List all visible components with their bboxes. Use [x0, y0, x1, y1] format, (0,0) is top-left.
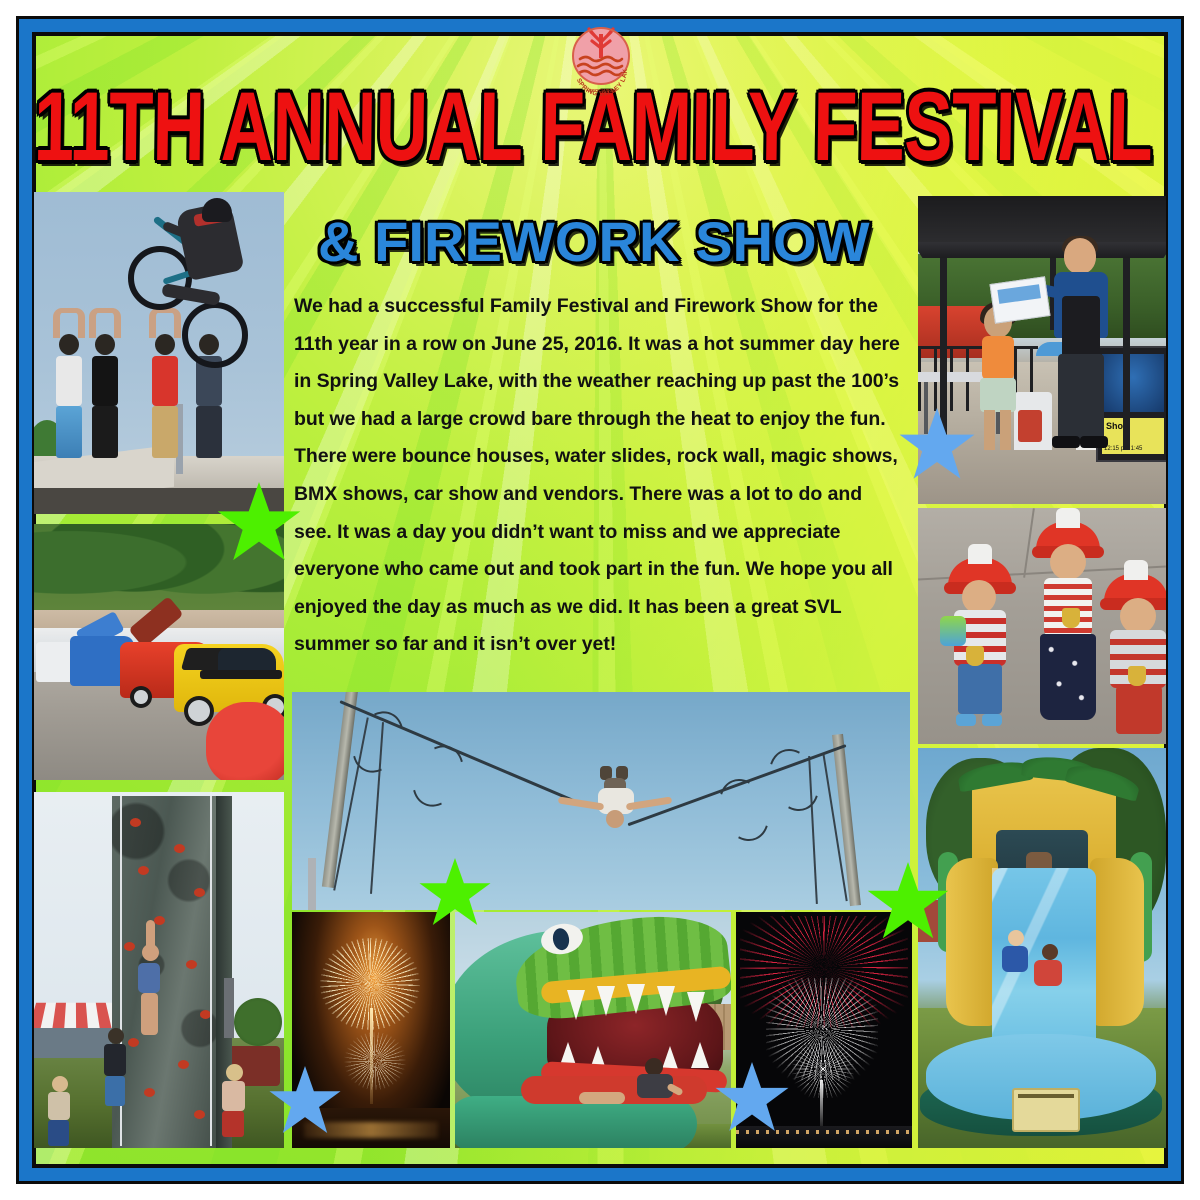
photo-rock-wall: [34, 792, 284, 1148]
photo-crocodile-bounce-house: [455, 912, 731, 1148]
photo-bmx-show: [34, 192, 284, 514]
spring-valley-lake-logo: SPRING VALLEY LAKE ASSOCIATION: [565, 22, 637, 98]
photo-bungee-trampoline: [292, 692, 910, 910]
photo-kids-fire-hats: [918, 508, 1166, 744]
festival-recap-paragraph: We had a successful Family Festival and …: [294, 288, 904, 664]
photo-car-show: [34, 524, 284, 780]
festival-poster: SPRING VALLEY LAKE ASSOCIATION Show 12:1…: [0, 0, 1200, 1200]
page-subtitle: & FIREWORK SHOW: [318, 214, 870, 270]
logo-sub-text: ASSOCIATION: [586, 88, 616, 93]
page-title: 11TH ANNUAL FAMILY FESTIVAL: [33, 78, 862, 174]
photo-water-slide: [918, 748, 1166, 1148]
photo-magic-show: Show 12:15 pm 1:45: [918, 196, 1166, 504]
